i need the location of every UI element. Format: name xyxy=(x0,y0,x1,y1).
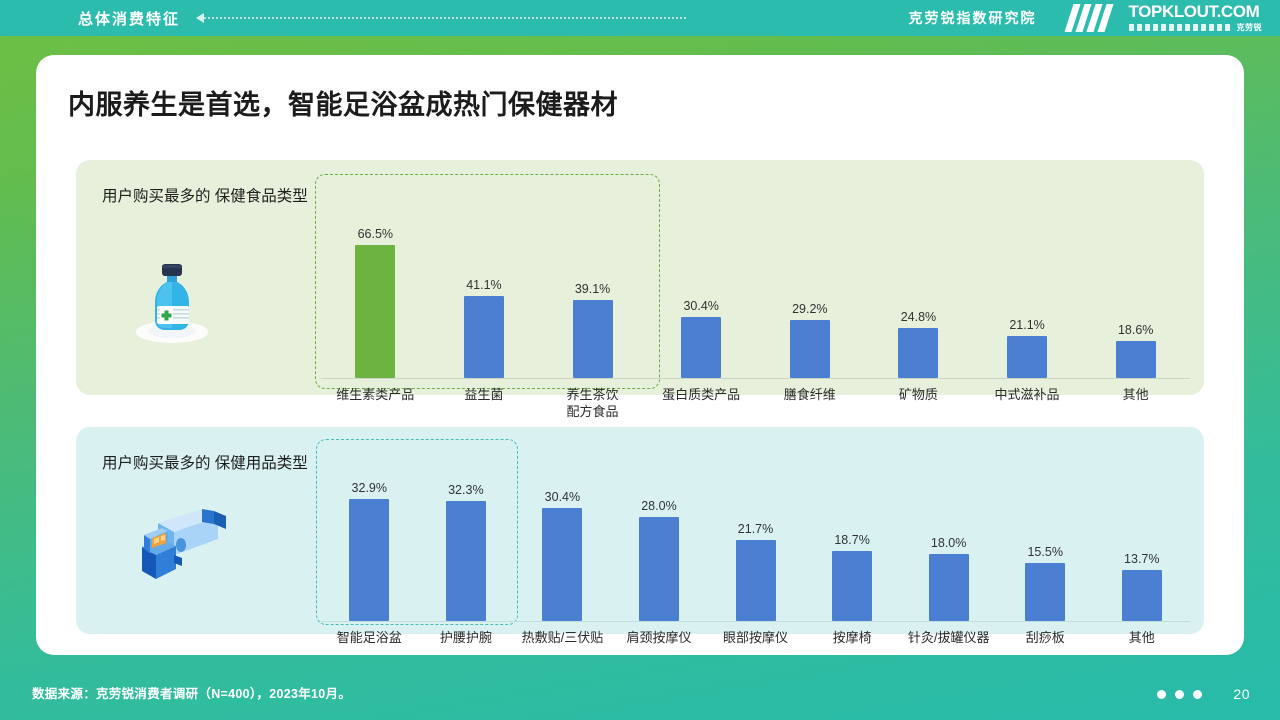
bar-column[interactable]: 24.8% xyxy=(864,178,973,378)
bar-value-label: 41.1% xyxy=(466,278,501,292)
bar-value-label: 21.1% xyxy=(1009,318,1044,332)
bar-value-label: 18.0% xyxy=(931,536,966,550)
bar-column[interactable]: 66.5% xyxy=(321,178,430,378)
bar-column[interactable]: 13.7% xyxy=(1094,443,1191,621)
slide-card: 内服养生是首选，智能足浴盆成热门保健器材 用户购买最多的 保健食品类型 xyxy=(36,55,1244,655)
bar-rect[interactable] xyxy=(573,300,613,378)
bar-value-label: 30.4% xyxy=(683,299,718,313)
chart-baseline-axis xyxy=(321,378,1190,379)
bar-rect[interactable] xyxy=(832,551,872,621)
brand-subtitle: 克劳锐 xyxy=(1129,22,1263,33)
category-label: 智能足浴盆 xyxy=(321,629,418,646)
chart-health-food: 66.5% 41.1% 39.1% 30.4% 29.2% 24.8% xyxy=(321,178,1190,378)
bar-column[interactable]: 39.1% xyxy=(538,178,647,378)
footer-pagination: 20 xyxy=(1157,686,1250,702)
category-label: 肩颈按摩仪 xyxy=(611,629,708,646)
bar-rect[interactable] xyxy=(464,296,504,378)
brand-logo: TOPKLOUT.COM 克劳锐 xyxy=(1129,3,1263,33)
page-title: 内服养生是首选，智能足浴盆成热门保健器材 xyxy=(68,83,618,122)
bar-value-label: 39.1% xyxy=(575,282,610,296)
bar-value-label: 15.5% xyxy=(1027,545,1062,559)
top-header-bar: 总体消费特征 克劳锐指数研究院 TOPKLOUT.COM 克劳锐 xyxy=(0,0,1280,36)
panel-health-device-label: 用户购买最多的 保健用品类型 xyxy=(102,453,308,475)
massage-device-icon xyxy=(118,505,228,585)
bar-rect[interactable] xyxy=(349,499,389,621)
page-number: 20 xyxy=(1233,686,1250,702)
bar-column[interactable]: 30.4% xyxy=(514,443,611,621)
panel-health-device: 用户购买最多的 保健用品类型 xyxy=(76,427,1204,634)
bar-value-label: 21.7% xyxy=(738,522,773,536)
bar-column[interactable]: 21.7% xyxy=(707,443,804,621)
category-label: 其他 xyxy=(1094,629,1191,646)
dotted-line-divider xyxy=(204,17,686,19)
brand-wordmark: TOPKLOUT.COM xyxy=(1129,3,1263,20)
bar-column[interactable]: 30.4% xyxy=(647,178,756,378)
bar-column[interactable]: 18.6% xyxy=(1081,178,1190,378)
bar-rect[interactable] xyxy=(355,245,395,378)
bar-rect[interactable] xyxy=(446,501,486,621)
bar-rect[interactable] xyxy=(1025,563,1065,621)
chart-category-labels: 智能足浴盆 护腰护腕 热敷贴/三伏贴 肩颈按摩仪 眼部按摩仪 按摩椅 针灸/拔罐… xyxy=(321,629,1190,646)
bar-value-label: 18.6% xyxy=(1118,323,1153,337)
bar-value-label: 29.2% xyxy=(792,302,827,316)
category-label: 蛋白质类产品 xyxy=(647,386,756,420)
bar-value-label: 13.7% xyxy=(1124,552,1159,566)
category-label: 膳食纤维 xyxy=(756,386,865,420)
category-label: 中式滋补品 xyxy=(973,386,1082,420)
bar-value-label: 66.5% xyxy=(358,227,393,241)
bar-column[interactable]: 32.9% xyxy=(321,443,418,621)
section-title: 总体消费特征 xyxy=(78,8,180,29)
header-brand-group: 克劳锐指数研究院 TOPKLOUT.COM 克劳锐 xyxy=(909,0,1280,36)
bar-column[interactable]: 21.1% xyxy=(973,178,1082,378)
category-label: 眼部按摩仪 xyxy=(707,629,804,646)
data-source-note: 数据来源：克劳锐消费者调研（N=400），2023年10月。 xyxy=(32,683,351,702)
bar-column[interactable]: 15.5% xyxy=(997,443,1094,621)
left-triangle-icon xyxy=(196,13,204,23)
chart-baseline-axis xyxy=(321,621,1190,622)
bar-rect[interactable] xyxy=(1122,570,1162,621)
supplement-bottle-icon xyxy=(124,252,220,348)
bar-rect[interactable] xyxy=(929,554,969,621)
bar-column[interactable]: 41.1% xyxy=(430,178,539,378)
bar-column[interactable]: 29.2% xyxy=(756,178,865,378)
bar-column[interactable]: 28.0% xyxy=(611,443,708,621)
pagination-dot-icon xyxy=(1157,690,1166,699)
bar-column[interactable]: 18.7% xyxy=(804,443,901,621)
bar-rect[interactable] xyxy=(681,317,721,378)
bar-rect[interactable] xyxy=(1116,341,1156,378)
category-label: 护腰护腕 xyxy=(418,629,515,646)
bar-column[interactable]: 18.0% xyxy=(900,443,997,621)
category-label: 矿物质 xyxy=(864,386,973,420)
bar-value-label: 32.9% xyxy=(352,481,387,495)
bar-value-label: 24.8% xyxy=(901,310,936,324)
header-arrow-decoration xyxy=(196,13,686,23)
bar-rect[interactable] xyxy=(639,517,679,621)
bar-rect[interactable] xyxy=(790,320,830,378)
panel-health-food: 用户购买最多的 保健食品类型 66.5% xyxy=(76,160,1204,395)
chart-health-device: 32.9% 32.3% 30.4% 28.0% 21.7% 18.7% xyxy=(321,443,1190,621)
bar-value-label: 28.0% xyxy=(641,499,676,513)
category-label: 热敷贴/三伏贴 xyxy=(514,629,611,646)
panel-health-food-label: 用户购买最多的 保健食品类型 xyxy=(102,186,308,208)
brand-name-cn: 克劳锐 xyxy=(1237,22,1263,33)
category-label: 刮痧板 xyxy=(997,629,1094,646)
category-label: 针灸/拔罐仪器 xyxy=(900,629,997,646)
category-label: 维生素类产品 xyxy=(321,386,430,420)
bar-value-label: 30.4% xyxy=(545,490,580,504)
slash-bars-logo-icon xyxy=(1069,3,1109,33)
brand-subtitle-bar-icon xyxy=(1129,24,1233,31)
bar-rect[interactable] xyxy=(898,328,938,378)
bar-rect[interactable] xyxy=(542,508,582,621)
pagination-dot-icon xyxy=(1193,690,1202,699)
pagination-dot-icon xyxy=(1175,690,1184,699)
bar-rect[interactable] xyxy=(1007,336,1047,378)
bar-rect[interactable] xyxy=(736,540,776,621)
bar-column[interactable]: 32.3% xyxy=(418,443,515,621)
bar-value-label: 32.3% xyxy=(448,483,483,497)
category-label: 按摩椅 xyxy=(804,629,901,646)
category-label: 益生菌 xyxy=(430,386,539,420)
bar-value-label: 18.7% xyxy=(834,533,869,547)
category-label: 其他 xyxy=(1081,386,1190,420)
chart-category-labels: 维生素类产品 益生菌 养生茶饮 配方食品 蛋白质类产品 膳食纤维 矿物质 中式滋… xyxy=(321,386,1190,420)
category-label: 养生茶饮 配方食品 xyxy=(538,386,647,420)
institute-name: 克劳锐指数研究院 xyxy=(909,8,1037,28)
